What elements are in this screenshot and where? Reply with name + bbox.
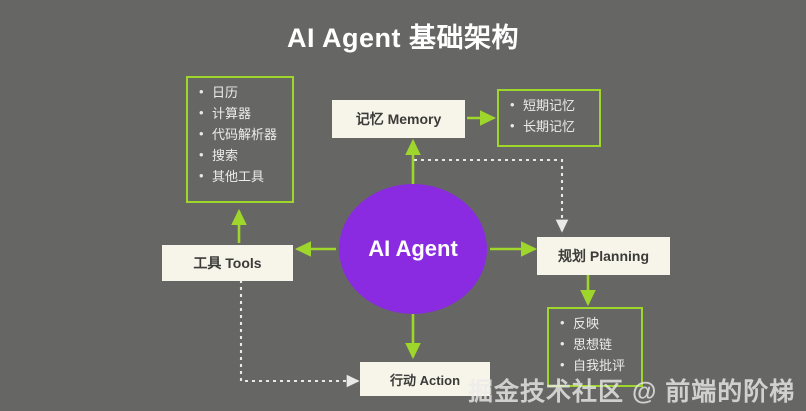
diagram-canvas: AI Agent 基础架构 — [0, 0, 806, 411]
list-item: 自我批评 — [573, 359, 635, 372]
list-item: 短期记忆 — [523, 99, 593, 112]
node-tools[interactable]: 工具 Tools — [162, 245, 293, 281]
list-item: 长期记忆 — [523, 120, 593, 133]
list-item: 日历 — [212, 86, 286, 99]
list-item: 思想链 — [573, 338, 635, 351]
node-ai-agent[interactable]: AI Agent — [339, 184, 487, 314]
list-item: 代码解析器 — [212, 128, 286, 141]
memory-list-box: 短期记忆 长期记忆 — [497, 89, 601, 147]
list-item: 其他工具 — [212, 170, 286, 183]
list-item: 计算器 — [212, 107, 286, 120]
wire-tools-to-action-dotted — [241, 280, 358, 381]
tools-list-box: 日历 计算器 代码解析器 搜索 其他工具 — [186, 76, 294, 203]
node-planning[interactable]: 规划 Planning — [537, 237, 670, 275]
watermark: 掘金技术社区 @ 前端的阶梯 — [468, 372, 795, 408]
page-title: AI Agent 基础架构 — [0, 16, 806, 55]
node-memory[interactable]: 记忆 Memory — [332, 100, 465, 138]
list-item: 搜索 — [212, 149, 286, 162]
list-item: 反映 — [573, 317, 635, 330]
